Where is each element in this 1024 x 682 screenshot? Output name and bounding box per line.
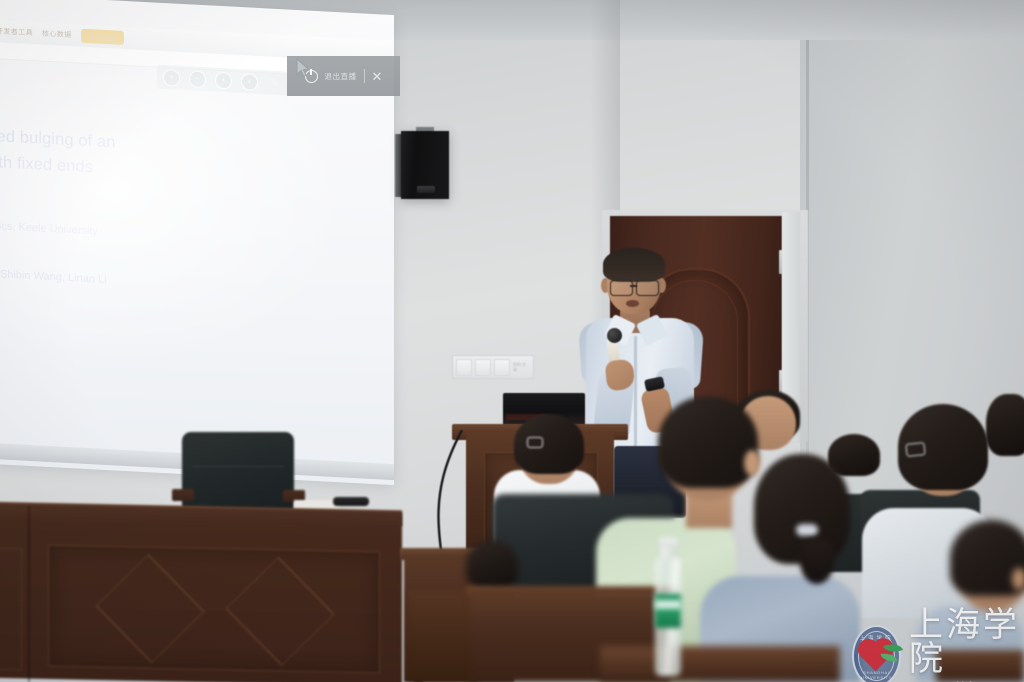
desk-diamond-right xyxy=(225,557,334,666)
zoom-in-icon[interactable]: + xyxy=(163,68,180,86)
wall-switch-plate[interactable]: 照明 空调 xyxy=(452,355,534,379)
front-desk-panel xyxy=(48,545,380,674)
close-icon[interactable]: ✕ xyxy=(372,70,383,83)
audience-front-left-head xyxy=(466,540,518,590)
switch-plate-label: 照明 空调 xyxy=(513,362,530,372)
mouse-cursor xyxy=(296,58,310,83)
front-desk-seam xyxy=(28,506,30,682)
podium-chair-arm-left xyxy=(172,489,194,501)
watermark-name-cn: 上海学院 xyxy=(909,608,1024,676)
audience-white-shirt-glasses-icon xyxy=(527,437,543,448)
rotate-right-icon[interactable]: › xyxy=(241,73,258,91)
switch-key-2[interactable] xyxy=(475,359,491,376)
audience-head-far-3 xyxy=(986,394,1024,456)
panel-divider xyxy=(364,69,365,83)
screenshot-root: 开发者工具 核心数据 直播课堂 + − ‹ › ✎ localised bulg… xyxy=(0,0,1024,682)
audience-back-right-glasses-icon xyxy=(905,442,925,457)
rotate-left-icon[interactable]: ‹ xyxy=(215,71,232,89)
browser-tab-highlight[interactable]: 直播课堂 xyxy=(81,28,125,44)
zoom-out-icon[interactable]: − xyxy=(189,70,206,88)
switch-key-1[interactable] xyxy=(456,359,472,376)
venue-watermark: 上海学院 SHANGHAI UNIVERSITY 上海学院 HA UNIVERS… xyxy=(852,608,1024,682)
browser-tab-1[interactable]: 开发者工具 xyxy=(0,26,33,38)
presenter-shirt-placket xyxy=(634,336,637,454)
podium-chair-back xyxy=(182,432,294,512)
glasses-bridge xyxy=(630,285,637,287)
presenter-brow-right xyxy=(637,276,655,278)
podium-chair-seam xyxy=(192,450,284,467)
row-desk-left-edge xyxy=(408,590,478,682)
presenter-mouth xyxy=(626,300,639,307)
presenter-brow-left xyxy=(611,276,629,278)
browser-tab-2[interactable]: 核心数据 xyxy=(42,28,72,40)
row-desk-right xyxy=(600,646,840,682)
audience-white-shirt-hair xyxy=(514,414,584,474)
speaker-grille-icon xyxy=(417,186,435,193)
exit-live-label[interactable]: 退出直播 xyxy=(325,71,357,82)
front-desk-left-panel xyxy=(0,548,22,671)
bottle-label-stripe xyxy=(655,600,681,609)
audience-hair-tie xyxy=(796,524,818,536)
switch-key-3[interactable] xyxy=(494,359,510,376)
pen-tool-icon[interactable]: ✎ xyxy=(267,75,282,91)
audience-front-right-ear xyxy=(1012,568,1024,590)
university-emblem-icon: 上海学院 SHANGHAI UNIVERSITY xyxy=(852,625,901,682)
desk-diamond-left xyxy=(95,554,204,663)
audience-mint-shirt-hair xyxy=(658,396,758,488)
emblem-arc-bottom-text: SHANGHAI UNIVERSITY xyxy=(854,670,899,680)
audience-ponytail xyxy=(800,538,834,584)
audience-mint-shirt-ear xyxy=(744,450,760,476)
glasses-lens-left xyxy=(610,280,633,296)
glasses-lens-right xyxy=(636,280,659,296)
slide-text-block: localised bulging of an ube with fixed e… xyxy=(0,122,250,315)
desk-remote[interactable] xyxy=(333,497,369,506)
watermark-text: 上海学院 HA UNIVERSITY xyxy=(909,608,1024,682)
